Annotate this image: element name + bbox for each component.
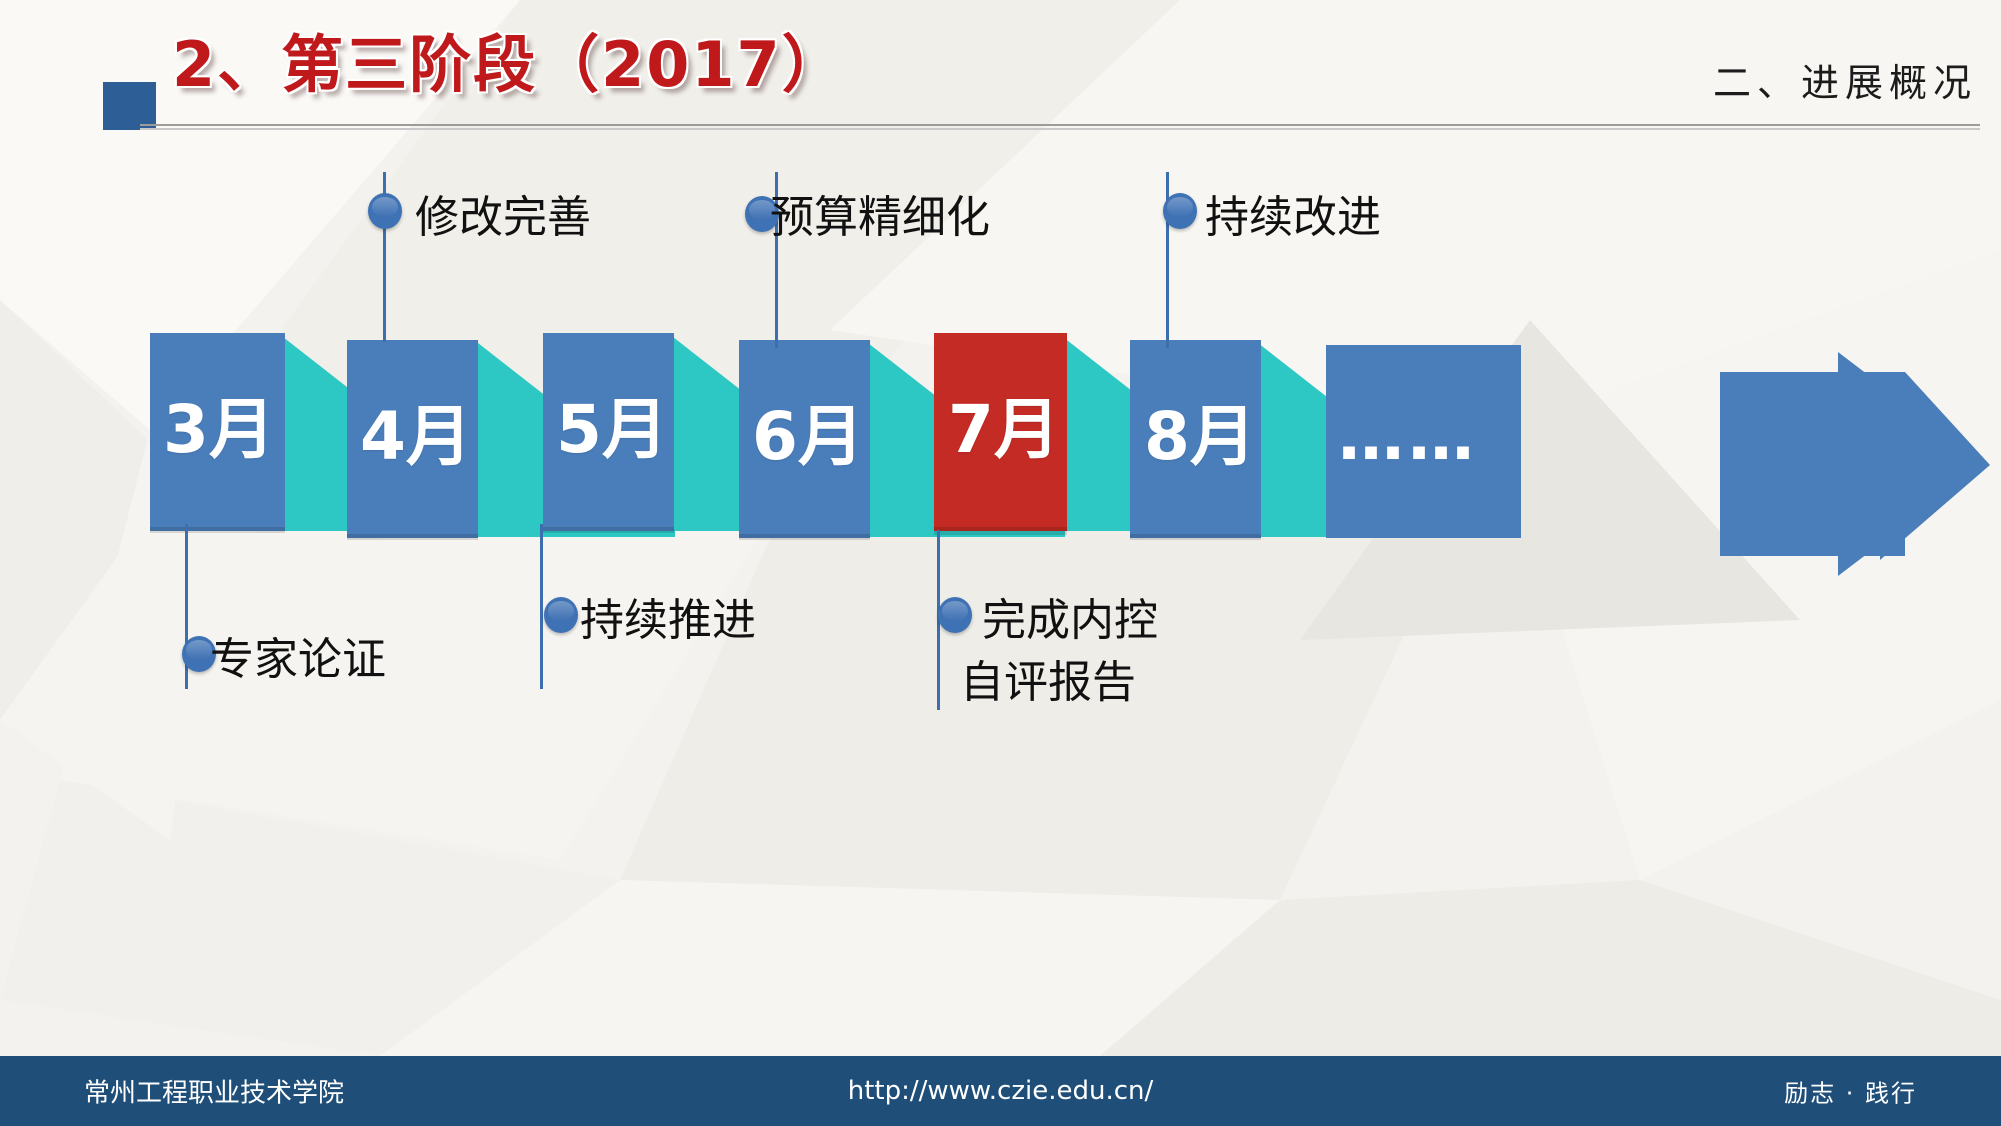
footer-institution: 常州工程职业技术学院 xyxy=(84,1073,344,1110)
month-label-3: 3月 xyxy=(163,397,275,463)
slide-canvas: 2、第三阶段（2017） 二、进展概况 xyxy=(0,0,2001,1126)
callout-top-2-label: 预算精细化 xyxy=(770,190,990,245)
month-label-8: 8月 xyxy=(1144,404,1256,470)
timeline-end-arrow xyxy=(1720,352,1990,576)
callout-top-1-label: 修改完善 xyxy=(415,190,591,245)
callout-dot-top-1 xyxy=(368,193,402,229)
month-label-more: …… xyxy=(1338,404,1478,470)
footer-motto: 励志 · 践行 xyxy=(1784,1074,1917,1109)
month-label-7: 7月 xyxy=(948,397,1060,463)
callout-dot-bottom-3 xyxy=(938,597,972,633)
callout-bottom-3-label-line2: 自评报告 xyxy=(960,655,1136,710)
timeline-chart: 3月 4月 5月 6月 7月 8月 …… 修改完善 预算精细化 持续改进 专家论… xyxy=(0,0,2001,1126)
month-label-6: 6月 xyxy=(752,404,864,470)
month-label-5: 5月 xyxy=(556,397,668,463)
callout-dot-bottom-2 xyxy=(544,597,578,633)
callout-bottom-2-label: 持续推进 xyxy=(580,593,756,648)
callout-bottom-1-label: 专家论证 xyxy=(210,632,386,687)
month-label-4: 4月 xyxy=(360,404,472,470)
callout-top-3-label: 持续改进 xyxy=(1205,190,1381,245)
callout-bottom-3-label-line1: 完成内控 xyxy=(982,593,1158,648)
leader-line-bottom-2 xyxy=(540,524,543,689)
timeline-shapes xyxy=(0,0,2001,1126)
callout-dot-top-3 xyxy=(1163,193,1197,229)
slide-footer: 常州工程职业技术学院 http://www.czie.edu.cn/ 励志 · … xyxy=(0,1056,2001,1126)
footer-url[interactable]: http://www.czie.edu.cn/ xyxy=(848,1076,1154,1106)
